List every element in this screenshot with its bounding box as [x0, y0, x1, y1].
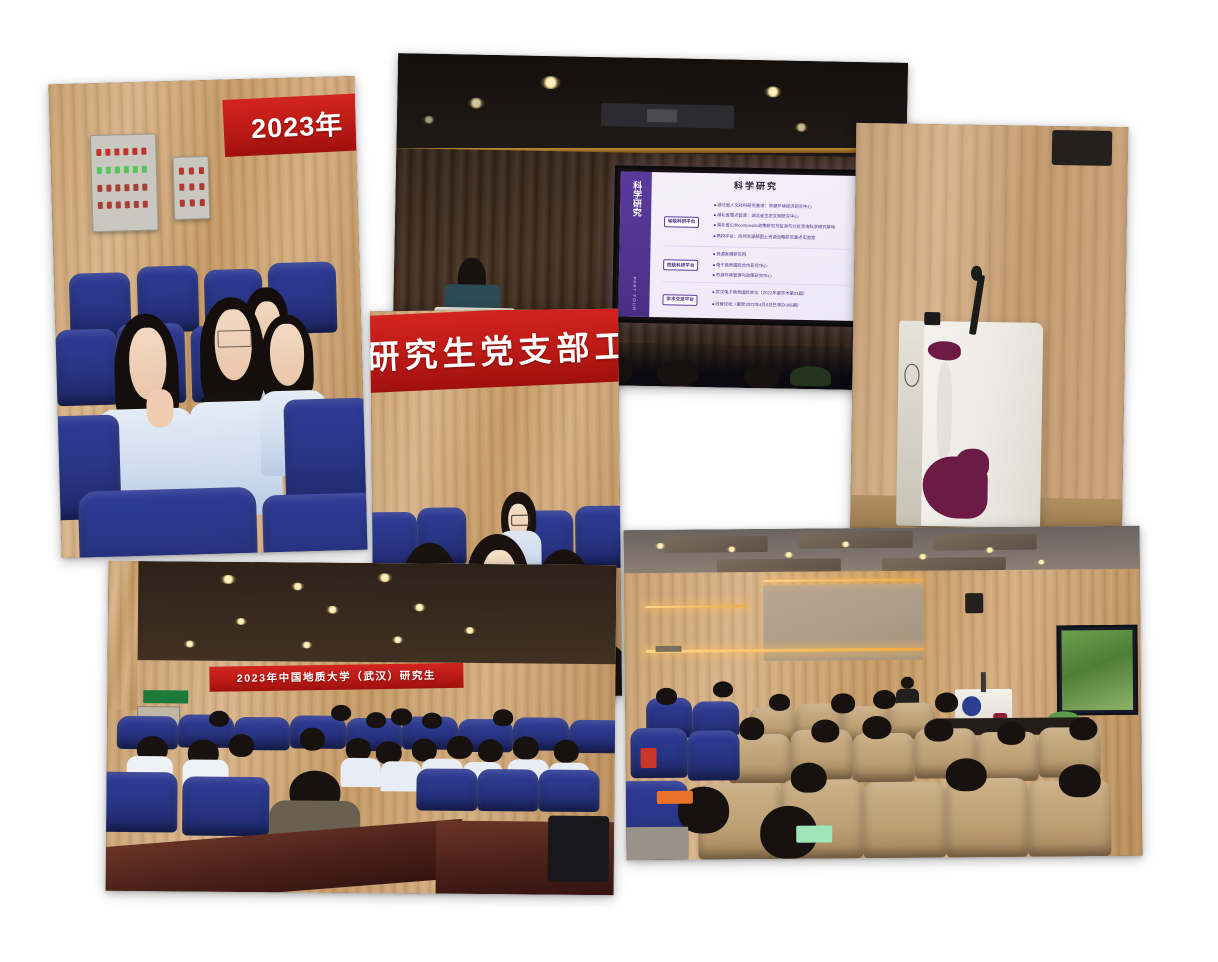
slide-heading: 科学研究 [657, 177, 855, 194]
slide-bullet-1-1: 湖北省人文社科研究基地：资源环境经济研究中心 [714, 202, 812, 210]
wall-speaker-icon [1052, 130, 1112, 165]
photo-auditorium-large-image [624, 526, 1143, 860]
photo-audience-closeup-image: 2023年 [48, 76, 367, 558]
slide-tag-3: 学术交流平台 [662, 294, 698, 306]
slide-bullet-1-2: 湖北省重点智库：湖北省生态文明研究中心 [714, 213, 799, 221]
banner-2023-text: 2023年 [223, 102, 367, 148]
photo-speaker-podium-image [850, 123, 1129, 555]
slide-sidebar: 科学研究 PART FOUR [618, 172, 652, 317]
photo-audience-closeup[interactable]: 2023年 [48, 76, 367, 558]
slide-bullet-2-3: 资源环境管理与政策研究中心 [713, 272, 772, 279]
banner-2023: 2023年 [223, 93, 368, 157]
university-logo-icon [962, 697, 981, 717]
wall-control-panel [90, 134, 159, 233]
projection-screen [1056, 625, 1138, 716]
photo-hall-wide[interactable]: 2023年中国地质大学（武汉）研究生 [106, 561, 617, 895]
banner-branch-text: 研究生党支部工 [370, 318, 622, 379]
banner-cug-2023-text: 2023年中国地质大学（武汉）研究生 [209, 668, 463, 687]
photo-speaker-podium[interactable] [850, 123, 1129, 555]
slide-body: 科学研究 省级科研平台 湖北省人文社科研究基地：资源环境经济研究中心 湖北省重点… [650, 172, 861, 321]
exit-sign-icon [143, 690, 189, 704]
wall-control-panel-small [173, 156, 210, 221]
photo-auditorium-large[interactable] [624, 526, 1143, 860]
slide-bullet-1-4: 高校平台：自然资源部国土资源战略研究重点实验室 [713, 233, 815, 241]
banner-branch: 研究生党支部工 [370, 309, 622, 394]
slide-bullet-2-1: 资源发展研究院 [713, 252, 746, 259]
slide-bullet-1-3: 湖北省公共composite政策研究与监测与分析咨询科学研究基地 [714, 223, 836, 231]
wall-speaker-icon [965, 593, 983, 613]
slide-bullet-2-2: 电子商务国际合作研究中心 [713, 262, 768, 269]
collage-canvas: 科学研究 PART FOUR 科学研究 省级科研平台 湖北省人文社科研究基地：资… [0, 0, 1218, 962]
slide-tag-1: 省级科研平台 [664, 216, 700, 228]
slide-side-part: PART FOUR [632, 276, 638, 311]
projection-screen: 科学研究 PART FOUR 科学研究 省级科研平台 湖北省人文社科研究基地：资… [612, 166, 866, 328]
podium [915, 321, 1043, 528]
slide-bullet-3-2: 经管论坛（截至2022年4月6日已举办305期） [712, 301, 801, 309]
photo-hall-wide-image: 2023年中国地质大学（武汉）研究生 [106, 561, 617, 895]
slide-side-title: 科学研究 [631, 181, 641, 217]
slide-bullet-3-1: 武汉电子商务国际会议（2022年度学术第21届） [712, 289, 807, 297]
banner-cug-2023: 2023年中国地质大学（武汉）研究生 [209, 663, 463, 692]
slide-tag-2: 校级科研平台 [663, 259, 699, 271]
presentation-slide: 科学研究 PART FOUR 科学研究 省级科研平台 湖北省人文社科研究基地：资… [618, 172, 860, 321]
